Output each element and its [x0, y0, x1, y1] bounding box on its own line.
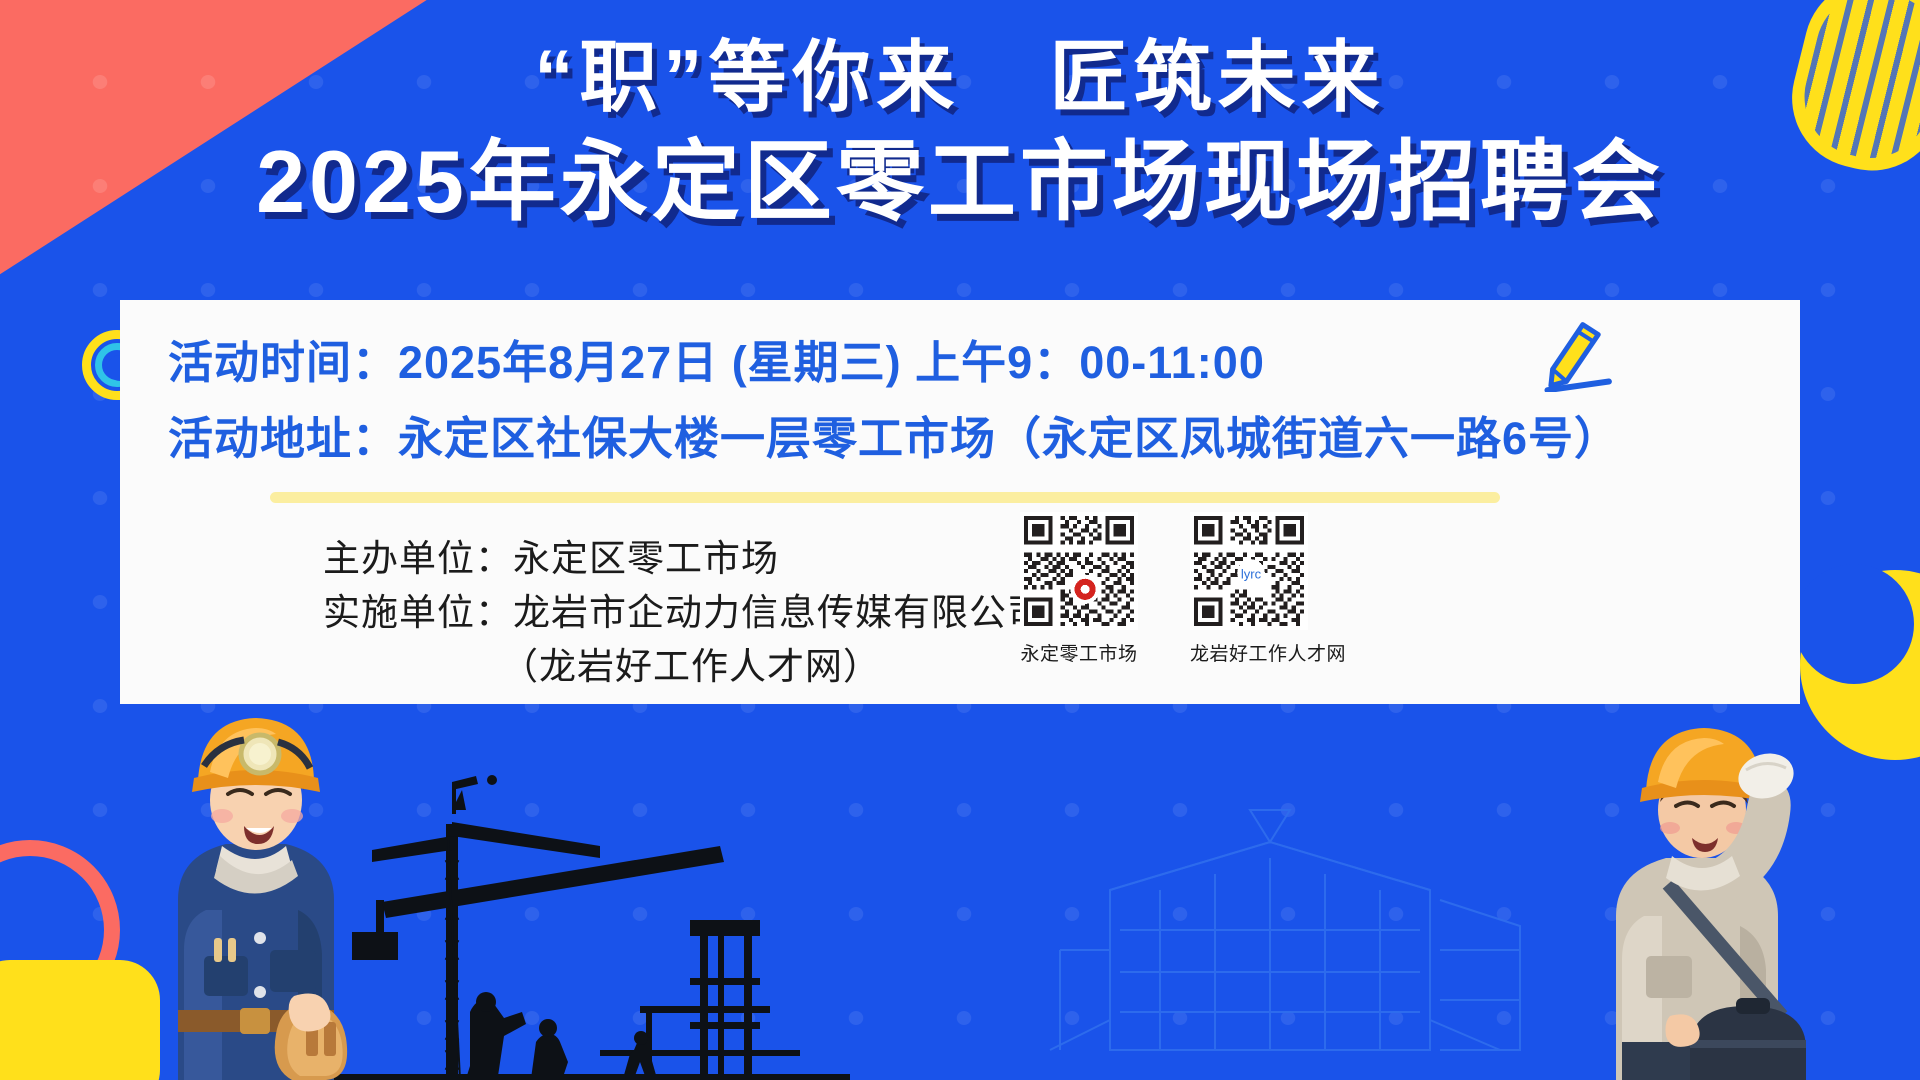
qr-item-lyrc[interactable]: lyrc 龙岩好工作人才网	[1190, 512, 1346, 666]
event-address-line: 活动地址：永定区社保大楼一层零工市场（永定区凤城街道六一路6号）	[168, 402, 1620, 467]
organizer-line-executor: 实施单位：龙岩市企动力信息传媒有限公司	[323, 586, 1045, 640]
qr-code-lyrc[interactable]: lyrc	[1190, 512, 1308, 630]
construction-worker-saluting	[1550, 650, 1850, 1080]
qr-caption-yongding: 永定零工市场	[1020, 639, 1138, 666]
headline-line-2: 2025年永定区零工市场现场招聘会	[0, 129, 1920, 235]
headline-line-1: “职”等你来 匠筑未来	[0, 34, 1920, 121]
qr-item-yongding[interactable]: 永定零工市场	[1020, 512, 1138, 666]
headline-slogan-a: “职”等你来	[534, 33, 960, 121]
recruitment-poster: “职”等你来 匠筑未来 2025年永定区零工市场现场招聘会 活动时间：2025年…	[0, 0, 1920, 1080]
event-time-line: 活动时间：2025年8月27日 (星期三) 上午9：00-11:00	[168, 326, 1265, 391]
pencil-icon	[1535, 320, 1615, 392]
organizer-block: 主办单位：永定区零工市场 实施单位：龙岩市企动力信息传媒有限公司 （龙岩好工作人…	[323, 532, 1045, 694]
yellow-divider	[270, 492, 1500, 503]
poster-headline: “职”等你来 匠筑未来 2025年永定区零工市场现场招聘会	[0, 34, 1920, 235]
qr-caption-lyrc: 龙岩好工作人才网	[1190, 639, 1346, 666]
organizer-line-host: 主办单位：永定区零工市场	[323, 532, 1045, 586]
organizer-website-text: （龙岩好工作人才网）	[501, 646, 881, 687]
organizer-line-website: （龙岩好工作人才网）	[323, 640, 1045, 694]
qr-code-yongding[interactable]	[1020, 512, 1138, 630]
svg-text:lyrc: lyrc	[1241, 567, 1262, 582]
headline-slogan-b: 匠筑未来	[1050, 33, 1386, 121]
construction-worker-blue-uniform	[108, 650, 398, 1080]
event-info-card: 活动时间：2025年8月27日 (星期三) 上午9：00-11:00 活动地址：…	[120, 300, 1800, 704]
qr-code-group: 永定零工市场	[1020, 512, 1346, 666]
